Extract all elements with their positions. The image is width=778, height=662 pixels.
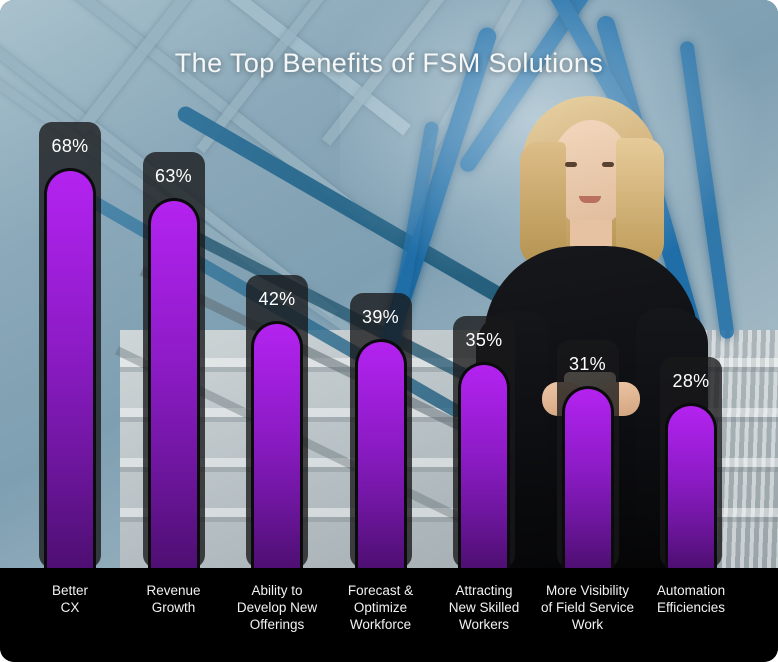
bar-value-label: 28% <box>660 371 722 392</box>
category-label-line: Optimize <box>321 599 441 616</box>
category-label-line: Revenue <box>114 582 234 599</box>
category-label-line: CX <box>10 599 130 616</box>
category-label: More Visibilityof Field ServiceWork <box>528 582 648 633</box>
category-label-line: Workers <box>424 616 544 633</box>
category-label-line: New Skilled <box>424 599 544 616</box>
category-label: RevenueGrowth <box>114 582 234 616</box>
category-label-line: Growth <box>114 599 234 616</box>
bar-chart: 68%63%42%39%35%31%28% <box>0 0 778 568</box>
bar-group[interactable]: 39% <box>355 0 407 568</box>
category-label-line: Automation <box>631 582 751 599</box>
category-label-line: Develop New <box>217 599 337 616</box>
bar-value-label: 42% <box>246 289 308 310</box>
category-label-line: Ability to <box>217 582 337 599</box>
category-label-line: More Visibility <box>528 582 648 599</box>
category-label-line: Attracting <box>424 582 544 599</box>
category-label-line: Forecast & <box>321 582 441 599</box>
bar-group[interactable]: 68% <box>44 0 96 568</box>
bar[interactable] <box>458 362 510 568</box>
category-label-line: Workforce <box>321 616 441 633</box>
bar[interactable] <box>665 403 717 568</box>
bar-group[interactable]: 28% <box>665 0 717 568</box>
category-label: BetterCX <box>10 582 130 616</box>
bar-value-label: 31% <box>557 354 619 375</box>
bar-value-label: 63% <box>143 166 205 187</box>
category-label-line: Work <box>528 616 648 633</box>
bar[interactable] <box>44 168 96 568</box>
category-label-band: BetterCXRevenueGrowthAbility toDevelop N… <box>0 568 778 662</box>
bar-value-label: 68% <box>39 136 101 157</box>
infographic-card: The Top Benefits of FSM Solutions 68%63%… <box>0 0 778 662</box>
category-label-line: Offerings <box>217 616 337 633</box>
bar-value-label: 35% <box>453 330 515 351</box>
bar[interactable] <box>251 321 303 568</box>
bar-group[interactable]: 35% <box>458 0 510 568</box>
category-label: AttractingNew SkilledWorkers <box>424 582 544 633</box>
category-label: AutomationEfficiencies <box>631 582 751 616</box>
category-label-line: Better <box>10 582 130 599</box>
bar[interactable] <box>148 198 200 568</box>
bar-group[interactable]: 42% <box>251 0 303 568</box>
bar-value-label: 39% <box>350 307 412 328</box>
bar[interactable] <box>355 339 407 568</box>
category-label: Ability toDevelop NewOfferings <box>217 582 337 633</box>
category-label-line: of Field Service <box>528 599 648 616</box>
bar[interactable] <box>562 386 614 568</box>
bar-group[interactable]: 63% <box>148 0 200 568</box>
bar-group[interactable]: 31% <box>562 0 614 568</box>
category-label: Forecast &OptimizeWorkforce <box>321 582 441 633</box>
category-label-line: Efficiencies <box>631 599 751 616</box>
